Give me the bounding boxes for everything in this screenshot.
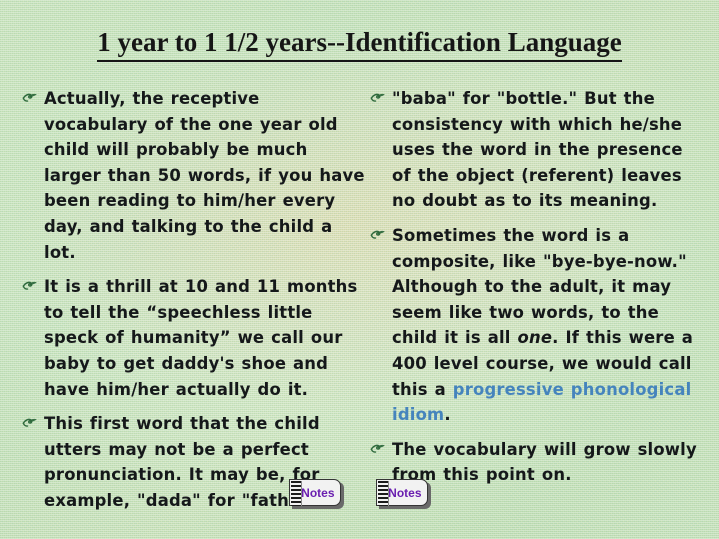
leaf-flourish-icon <box>370 86 392 104</box>
notepad-icon: Notes <box>376 479 428 506</box>
leaf-flourish-icon <box>22 86 44 104</box>
leaf-flourish-icon <box>370 437 392 455</box>
emphasis-text: one <box>518 328 553 347</box>
presentation-slide: 1 year to 1 1/2 years--Identification La… <box>0 0 719 539</box>
left-bullet-item: It is a thrill at 10 and 11 months to te… <box>22 274 368 402</box>
notes-button-label: Notes <box>388 487 422 499</box>
left-bullet-item: Actually, the receptive vocabulary of th… <box>22 86 368 265</box>
notepad-icon: Notes <box>289 479 341 506</box>
text-run: Actually, the receptive vocabulary of th… <box>44 89 365 262</box>
slide-title-text: 1 year to 1 1/2 years--Identification La… <box>97 26 621 62</box>
text-run: The vocabulary will grow slowly from thi… <box>392 440 697 485</box>
leaf-flourish-icon <box>22 274 44 292</box>
right-bullet-item: Sometimes the word is a composite, like … <box>370 223 708 428</box>
notes-button[interactable]: Notes <box>376 479 431 509</box>
spiral-binding-icon <box>291 481 302 506</box>
notes-button[interactable]: Notes <box>289 479 344 509</box>
right-bullet-item: "baba" for "bottle." But the consistency… <box>370 86 708 214</box>
text-run: It is a thrill at 10 and 11 months to te… <box>44 277 358 398</box>
notes-button-bar: NotesNotes <box>0 479 719 509</box>
right-bullet-text: Sometimes the word is a composite, like … <box>392 223 708 428</box>
right-content-column: "baba" for "bottle." But the consistency… <box>370 86 708 497</box>
text-run: . <box>444 405 450 424</box>
spiral-binding-icon <box>378 481 389 506</box>
notes-button-label: Notes <box>301 487 335 499</box>
left-bullet-text: It is a thrill at 10 and 11 months to te… <box>44 274 368 402</box>
left-content-column: Actually, the receptive vocabulary of th… <box>22 86 368 523</box>
leaf-flourish-icon <box>370 223 392 241</box>
slide-title: 1 year to 1 1/2 years--Identification La… <box>0 26 719 62</box>
leaf-flourish-icon <box>22 411 44 429</box>
left-bullet-text: Actually, the receptive vocabulary of th… <box>44 86 368 265</box>
text-run: "baba" for "bottle." But the consistency… <box>392 89 683 210</box>
right-bullet-text: "baba" for "bottle." But the consistency… <box>392 86 708 214</box>
